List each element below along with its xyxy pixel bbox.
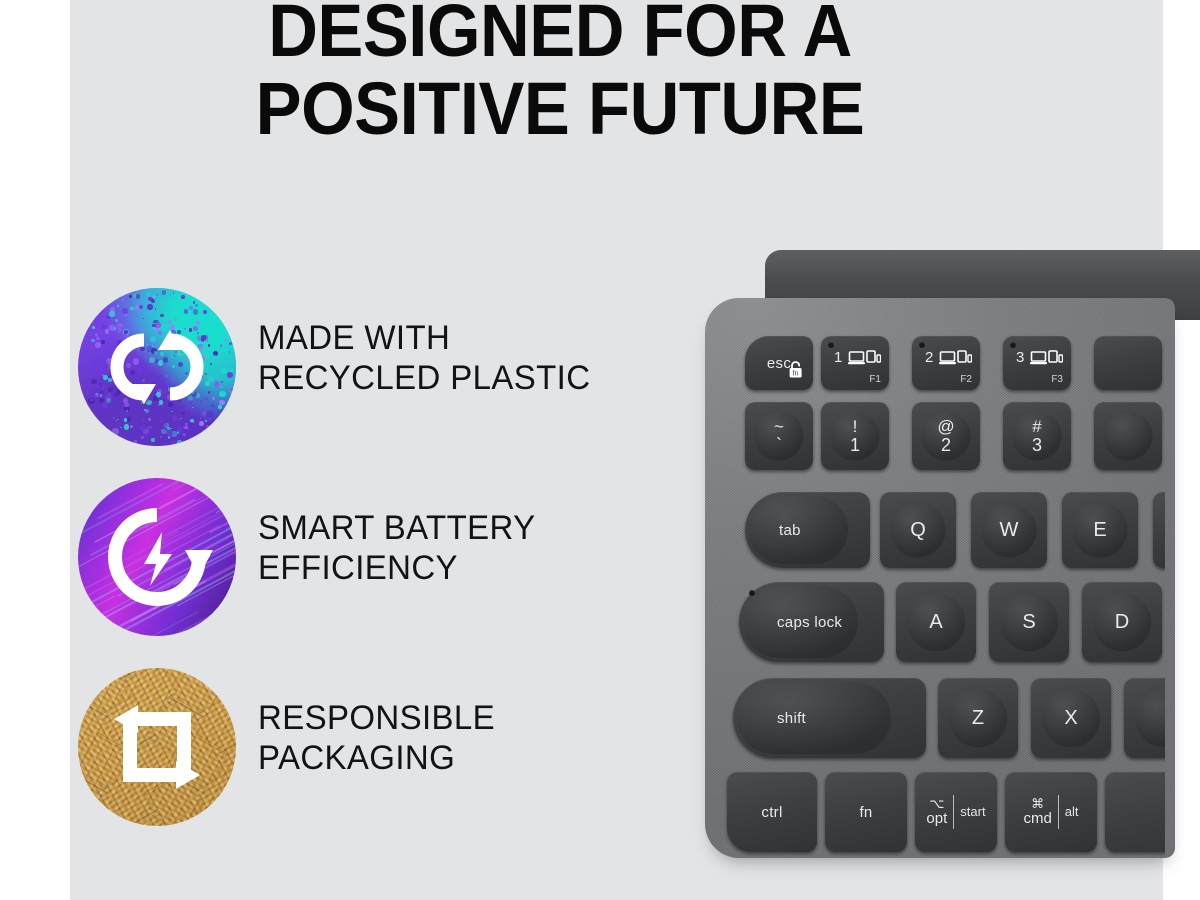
legend-divider [953,795,954,829]
option-glyph: ⌥ [926,797,947,811]
key-tab[interactable]: tab [745,492,870,568]
feature-item-battery-efficiency: SMART BATTERY EFFICIENCY [78,478,678,668]
feature-label-line-1: MADE WITH [258,318,665,358]
page-title-line-1: DESIGNED FOR A [268,0,852,72]
keyboard-product-image: esc fn 1 [705,250,1200,870]
square-repeat-arrows-glyph [78,668,236,826]
recycled-plastic-icon [78,288,236,446]
key-e[interactable]: E [1062,492,1138,568]
legend-divider [1058,795,1059,829]
key-w[interactable]: W [971,492,1047,568]
key-x[interactable]: X [1031,678,1111,758]
key-tilde[interactable]: ~ ` [745,402,813,470]
key-4[interactable] [1094,402,1162,470]
feature-label-responsible-packaging: RESPONSIBLE PACKAGING [258,698,665,778]
key-caps-lock[interactable]: caps lock [739,582,884,662]
product-feature-graphic: DESIGNED FOR A POSITIVE FUTURE MADE WITH [0,0,1200,900]
feature-label-line-2: PACKAGING [258,738,665,778]
key-2[interactable]: @ 2 [912,402,980,470]
page-title-line-2: POSITIVE FUTURE [188,70,932,148]
svg-text:fn: fn [793,370,799,377]
key-fn[interactable]: fn [825,772,907,852]
led-indicator [1010,342,1016,348]
feature-label-line-1: SMART BATTERY [258,508,665,548]
feature-label-battery-efficiency: SMART BATTERY EFFICIENCY [258,508,665,588]
feature-label-line-2: EFFICIENCY [258,548,665,588]
key-z[interactable]: Z [938,678,1018,758]
key-q[interactable]: Q [880,492,956,568]
key-ctrl[interactable]: ctrl [727,772,817,852]
key-cmd-alt[interactable]: ⌘ cmd alt [1005,772,1097,852]
led-indicator [828,342,834,348]
feature-label-line-2: RECYCLED PLASTIC [258,358,665,398]
key-f3[interactable]: 3 F3 [1003,336,1071,390]
responsible-packaging-icon [78,668,236,826]
easy-switch-devices-icon [1030,349,1063,373]
key-a[interactable]: A [896,582,976,662]
key-3[interactable]: # 3 [1003,402,1071,470]
feature-label-line-1: RESPONSIBLE [258,698,665,738]
key-esc[interactable]: esc fn [745,336,813,390]
key-space[interactable] [1105,772,1165,852]
key-c[interactable] [1124,678,1165,758]
easy-switch-devices-icon [939,349,972,373]
fn-lock-icon: fn [786,360,805,384]
feature-label-recycled-plastic: MADE WITH RECYCLED PLASTIC [258,318,665,398]
led-indicator [919,342,925,348]
recycle-loop-glyph [78,288,236,446]
feature-item-responsible-packaging: RESPONSIBLE PACKAGING [78,668,678,858]
feature-list: MADE WITH RECYCLED PLASTIC SMART BATTERY… [78,288,678,858]
key-r[interactable] [1153,492,1165,568]
key-shift[interactable]: shift [733,678,926,758]
command-glyph: ⌘ [1023,797,1051,811]
led-indicator [749,590,755,596]
key-d[interactable]: D [1082,582,1162,662]
page-title: DESIGNED FOR A POSITIVE FUTURE [188,0,932,148]
key-opt-start[interactable]: ⌥ opt start [915,772,997,852]
key-f2[interactable]: 2 F2 [912,336,980,390]
key-1[interactable]: ! 1 [821,402,889,470]
easy-switch-devices-icon [848,349,881,373]
key-f1[interactable]: 1 F1 [821,336,889,390]
key-s[interactable]: S [989,582,1069,662]
battery-efficiency-icon [78,478,236,636]
circular-arrow-bolt-glyph [78,478,236,636]
feature-item-recycled-plastic: MADE WITH RECYCLED PLASTIC [78,288,678,478]
key-f4[interactable] [1094,336,1162,390]
keyboard-keys: esc fn 1 [705,250,1165,870]
